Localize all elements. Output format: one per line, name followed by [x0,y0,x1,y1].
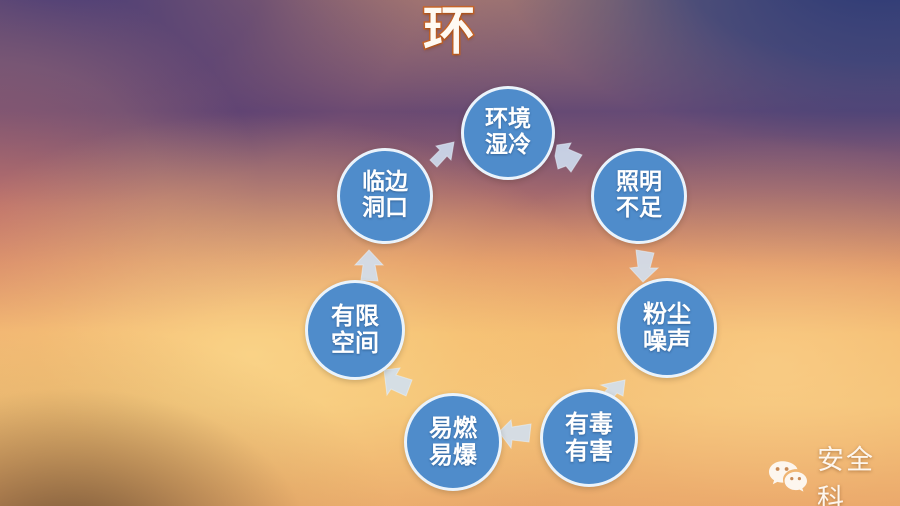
watermark-label: 安全科 [817,438,900,506]
node-toxic-harmful[interactable]: 有毒 有害 [540,389,638,487]
watermark: 安全科 [768,438,900,506]
node-label-line1: 有毒 [565,411,613,438]
node-label-line2: 洞口 [362,196,408,222]
node-label-line1: 粉尘 [643,301,691,328]
node-dust-noise[interactable]: 粉尘 噪声 [617,278,717,378]
node-insufficient-lighting[interactable]: 照明 不足 [591,148,687,244]
slide-canvas: 环 环境 湿冷 照 [0,0,900,506]
node-label-line1: 环境 [485,107,531,133]
node-environment-damp-cold[interactable]: 环境 湿冷 [461,86,555,180]
node-confined-space[interactable]: 有限 空间 [305,280,405,380]
node-edge-opening[interactable]: 临边 洞口 [337,148,433,244]
node-label-line2: 有害 [565,438,613,465]
arrow-toxic-to-flammable [497,418,533,450]
node-label-line2: 易爆 [429,442,477,469]
node-label-line1: 易燃 [429,415,477,442]
node-label-line2: 空间 [331,330,379,357]
node-label-line2: 不足 [616,196,662,222]
wechat-icon [768,460,808,494]
node-label-line1: 临边 [362,170,408,196]
node-flammable-explosive[interactable]: 易燃 易爆 [404,393,502,491]
node-label-line2: 噪声 [643,328,691,355]
arrow-flammable-to-space [381,366,415,400]
node-label-line1: 有限 [331,303,379,330]
arrow-environment-to-lighting [553,142,587,178]
node-label-line1: 照明 [616,170,662,196]
node-label-line2: 湿冷 [485,133,531,159]
arrow-edge-to-environment [428,138,464,172]
page-title: 环 [0,2,900,62]
